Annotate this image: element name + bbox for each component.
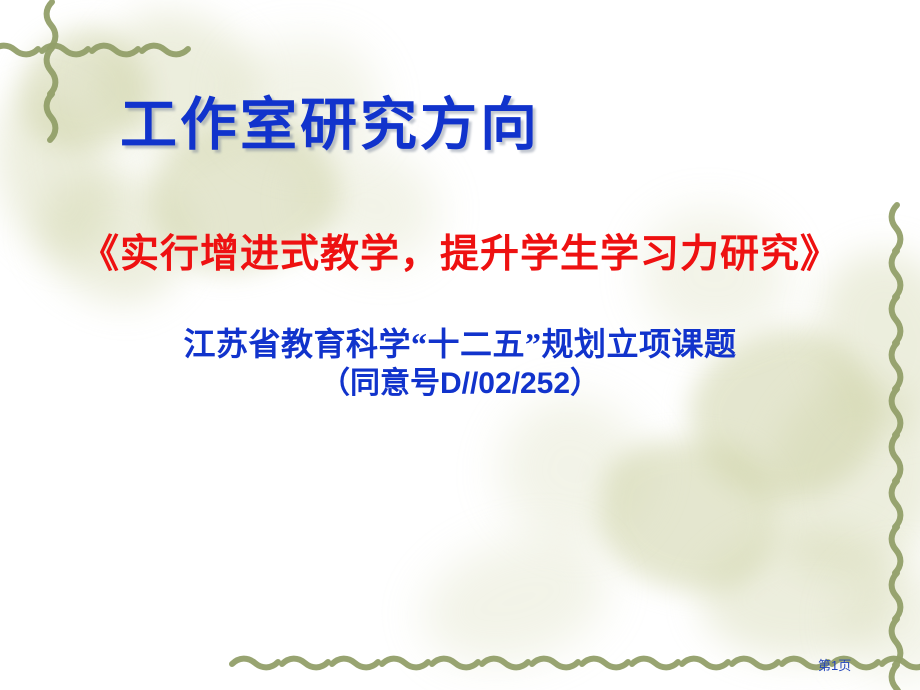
approval-code: D//02/252	[440, 367, 570, 400]
page-title: 工作室研究方向	[120, 96, 540, 156]
approval-number-line: （同意号D//02/252）	[0, 366, 920, 401]
approval-prefix: （同意号	[320, 367, 440, 400]
approval-suffix: ）	[570, 367, 600, 400]
research-topic-heading: 《实行增进式教学，提升学生学习力研究》	[0, 234, 920, 277]
slide-page-number: 第1页	[818, 655, 851, 674]
slide-canvas: 工作室研究方向 《实行增进式教学，提升学生学习力研究》 江苏省教育科学“十二五”…	[0, 0, 920, 690]
project-affiliation-line: 江苏省教育科学“十二五”规划立项课题	[0, 326, 920, 364]
border-top-left-vertical	[47, 2, 56, 140]
border-right-vertical	[892, 205, 901, 690]
border-bottom-horizontal	[232, 659, 920, 668]
border-top-left-horizontal	[0, 46, 188, 55]
